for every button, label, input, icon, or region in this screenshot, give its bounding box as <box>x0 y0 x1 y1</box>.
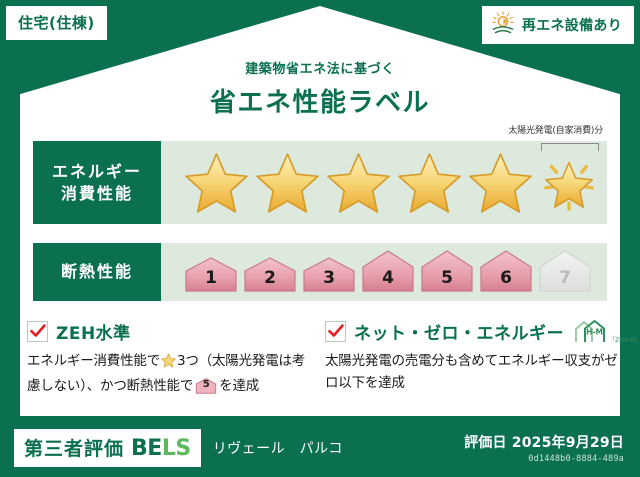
zeh-achievement-title: ZEH水準 <box>56 319 131 344</box>
inline-star-icon <box>161 353 176 376</box>
evaluation-date: 評価日 2025年9月29日 <box>464 432 624 452</box>
bels-logo-part1: BE <box>131 436 162 461</box>
evaluation-id: 0d1448b0-8884-489a <box>464 454 624 464</box>
insulation-grade-number: 4 <box>360 268 416 288</box>
energy-label-line1: エネルギー <box>52 161 142 183</box>
energy-performance-label: 住宅(住棟) 再エネ設備あり 建築物省エネ法に <box>0 0 640 477</box>
energy-performance-row: エネルギー 消費性能 <box>33 141 607 224</box>
insulation-grade-number: 2 <box>242 268 298 288</box>
inline-house-badge-icon: 5 <box>195 377 217 394</box>
bels-jp-label: 第三者評価 <box>24 434 124 461</box>
label-subtitle: 建築物省エネ法に基づく <box>0 58 640 77</box>
insulation-grade-number: 5 <box>419 268 475 288</box>
netzero-achievement-block: ネット・ゼロ・エネルギー H-M 「ZEH-M」 太陽光発電の売電分も含めてエネ… <box>325 318 620 395</box>
solar-bracket <box>541 143 599 151</box>
insulation-grade-number: 3 <box>301 268 357 288</box>
insulation-label: 断熱性能 <box>61 261 133 283</box>
label-title-block: 建築物省エネ法に基づく 省エネ性能ラベル <box>0 58 640 119</box>
insulation-grade-badge: 4 <box>360 247 416 293</box>
building-type-tag: 住宅(住棟) <box>6 6 107 40</box>
solar-caption: 太陽光発電(自家消費)分 <box>508 123 603 136</box>
zeh-achievement-head: ZEH水準 <box>27 318 317 344</box>
bels-logo: BELS <box>131 436 191 461</box>
bels-third-party-tag: 第三者評価 BELS <box>14 429 201 467</box>
insulation-performance-value-cell: 1 2 3 4 5 <box>161 243 607 301</box>
zeh-desc-part3: を達成 <box>219 378 259 394</box>
insulation-grade-badge: 6 <box>478 247 534 293</box>
insulation-grade-number: 6 <box>478 268 534 288</box>
star-icon <box>396 151 463 215</box>
bels-logo-part2: LS <box>162 436 191 461</box>
insulation-grade-badge: 2 <box>242 253 298 293</box>
renewable-equipment-label: 再エネ設備あり <box>522 15 622 35</box>
building-name: リヴェール パルコ <box>213 438 343 458</box>
evaluation-date-value: 2025年9月29日 <box>512 435 624 451</box>
evaluation-info: 評価日 2025年9月29日 0d1448b0-8884-489a <box>464 432 624 464</box>
insulation-performance-row: 断熱性能 1 2 3 4 <box>33 243 607 301</box>
label-title: 省エネ性能ラベル <box>0 82 640 119</box>
evaluation-date-label: 評価日 <box>464 435 507 451</box>
insulation-grade-number: 1 <box>183 268 239 288</box>
insulation-grade-badge: 3 <box>301 253 357 293</box>
insulation-grade-badge: 1 <box>183 253 239 293</box>
star-rating <box>183 141 599 224</box>
zeh-achievement-description: エネルギー消費性能で3つ（太陽光発電は考慮しない）、かつ断熱性能で5を達成 <box>27 351 317 398</box>
insulation-grade-number: 7 <box>537 268 593 288</box>
checkmark-icon <box>325 321 346 342</box>
sun-solar-icon <box>490 11 516 39</box>
svg-text:H-M: H-M <box>586 328 603 337</box>
energy-label-line2: 消費性能 <box>61 183 133 205</box>
star-icon <box>467 151 534 215</box>
energy-performance-value-cell: 太陽光発電(自家消費)分 <box>161 141 607 224</box>
netzero-achievement-head: ネット・ゼロ・エネルギー H-M 「ZEH-M」 <box>325 318 620 344</box>
label-footer: 第三者評価 BELS リヴェール パルコ 評価日 2025年9月29日 0d14… <box>0 419 640 477</box>
renewable-equipment-tag: 再エネ設備あり <box>482 6 634 44</box>
zeh-m-logo-caption: 「ZEH-M」 <box>609 335 640 344</box>
checkmark-icon <box>27 321 48 342</box>
inline-house-number: 5 <box>195 377 217 393</box>
insulation-grade-scale: 1 2 3 4 5 <box>183 243 599 301</box>
netzero-achievement-description: 太陽光発電の売電分も含めてエネルギー収支がゼロ以下を達成 <box>325 351 620 395</box>
netzero-achievement-title: ネット・ゼロ・エネルギー <box>354 319 564 344</box>
star-icon <box>183 151 250 215</box>
insulation-grade-badge: 5 <box>419 247 475 293</box>
insulation-performance-label-cell: 断熱性能 <box>33 243 161 301</box>
zeh-achievement-block: ZEH水準 エネルギー消費性能で3つ（太陽光発電は考慮しない）、かつ断熱性能で5… <box>27 318 317 398</box>
star-icon <box>325 151 392 215</box>
zeh-desc-part1: エネルギー消費性能で <box>27 353 160 369</box>
star-icon <box>254 151 321 215</box>
insulation-grade-badge-inactive: 7 <box>537 247 593 293</box>
energy-performance-label-cell: エネルギー 消費性能 <box>33 141 161 224</box>
solar-bonus-star-icon <box>538 151 600 215</box>
zeh-m-logo-icon: H-M 「ZEH-M」 <box>574 318 640 344</box>
